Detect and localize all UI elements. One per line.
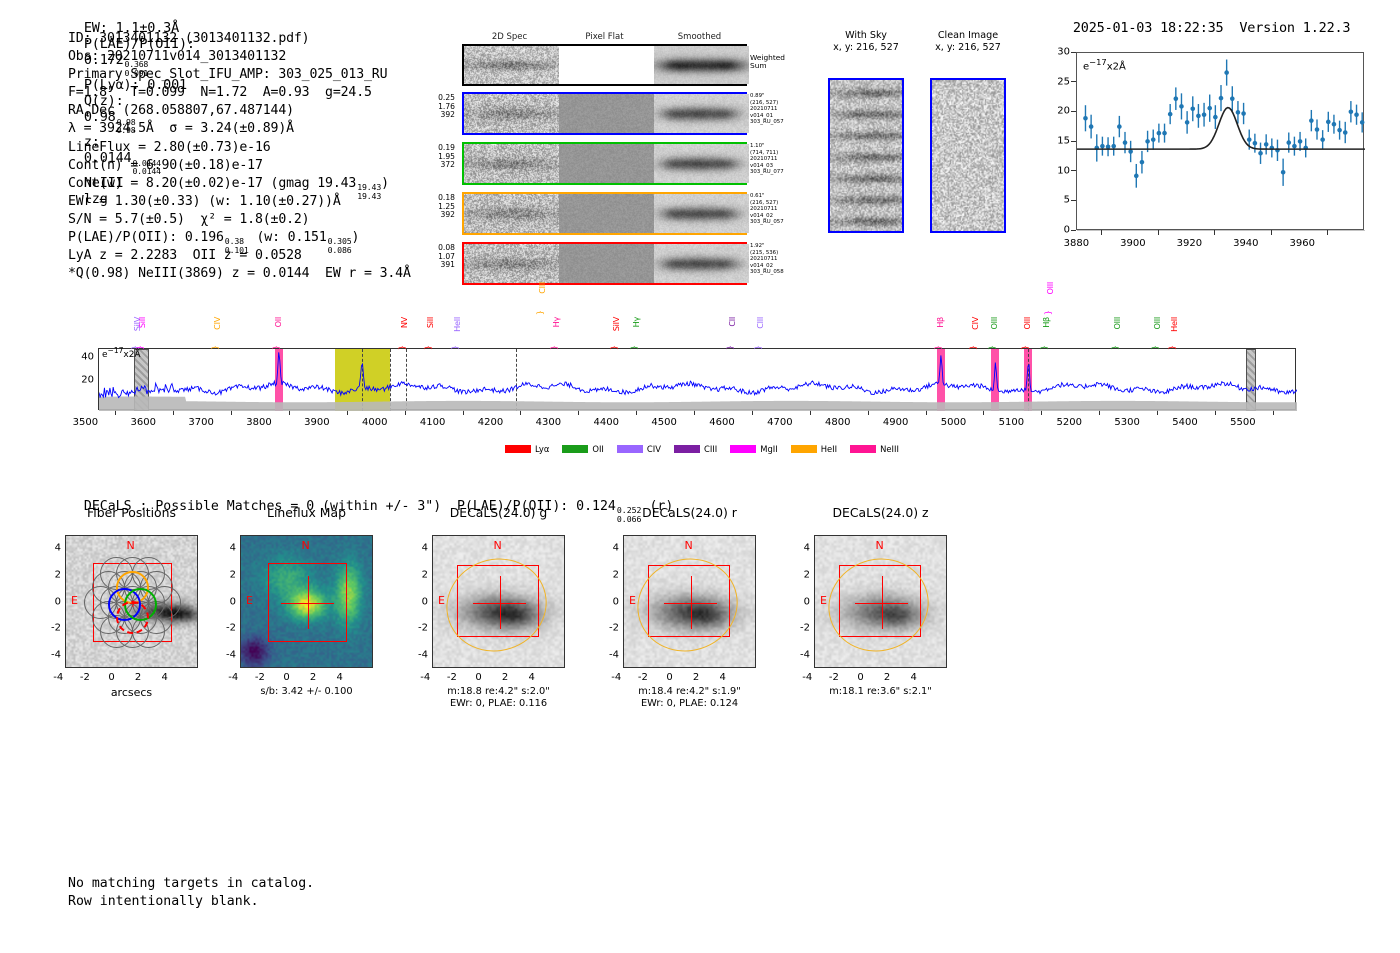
panel-4-compass-e: E — [820, 594, 827, 607]
spectrum-xtick-3800: 3800 — [229, 417, 289, 428]
panel-4-caption-1: m:18.1 re:3.6" s:2.1" — [792, 686, 969, 698]
row-1-smoothed — [654, 144, 749, 183]
linefit-ytick-15: 15 — [1038, 136, 1070, 147]
panel-2-caption-2: EWr: 0, PLAE: 0.116 — [410, 698, 587, 710]
spectrum-line-label-OIII-15: OIII — [990, 317, 998, 330]
spectrum-line-label-CIII-10: CIII — [538, 282, 546, 294]
panel-0-title: Fiber Positions — [43, 505, 220, 520]
row-0-smoothed — [654, 94, 749, 133]
panel-1-ytick--2: -2 — [214, 623, 236, 634]
spec2d-row-0-right-0: 0.89" — [750, 93, 820, 100]
cutout-1-pixels — [932, 80, 1004, 231]
panel-3-ytick-4: 4 — [597, 543, 619, 554]
panel-3-compass-e: E — [629, 594, 636, 607]
panel-1-compass-e: E — [246, 594, 253, 607]
legend-label-OII: OII — [592, 444, 604, 454]
spectrum-line-label-CII-11: CII — [728, 317, 736, 327]
spec2d-column-title-2: Smoothed — [652, 32, 747, 42]
panel-4-xtick-4: 4 — [894, 672, 934, 683]
spec2d-row-0-right-2: 20210711 — [750, 106, 820, 113]
spec2d-row-3-right-1: (215, 536) — [750, 250, 820, 257]
panel-4-title: DECaLS(24.0) z — [792, 505, 969, 520]
spectrum-xtick-5100: 5100 — [981, 417, 1041, 428]
decals-panels-row: Fiber Positions+-4-4-2-2002244NEarcsecsL… — [0, 505, 1400, 745]
spectrum-xtick-5400: 5400 — [1155, 417, 1215, 428]
legend-entry-OII: OII — [562, 444, 604, 454]
row-1-pixelflat — [559, 144, 654, 183]
linefit-plot-area: e−17x2Å — [1076, 52, 1364, 230]
spec2d-row-2-right-4: 303_RU_057 — [750, 219, 820, 226]
panel-4-ytick-2: 2 — [788, 569, 810, 580]
linefit-xtick-mark-3960 — [1327, 230, 1328, 235]
spectrum-xtick-3900: 3900 — [287, 417, 347, 428]
info-lambda-sigma: λ = 3924.5Å σ = 3.24(±0.89)Å — [68, 120, 411, 138]
linefit-ytick-mark-10 — [1071, 170, 1076, 171]
panel-0-xlabel: arcsecs — [65, 686, 198, 699]
spec2d-row-2-right-labels: 0.61"(216, 527)20210711v014_02303_RU_057 — [750, 193, 820, 226]
spectrum-xtick-4100: 4100 — [403, 417, 463, 428]
cutout-1-title-line2: x, y: 216, 527 — [908, 42, 1028, 54]
spec2d-row-1 — [462, 142, 747, 185]
spec2d-row-0-right-3: v014_01 — [750, 113, 820, 120]
linefit-xtick-mark-3880 — [1101, 230, 1102, 235]
spec2d-row-1-right-3: v014_03 — [750, 163, 820, 170]
info-plae-w-errors: 0.3050.086 — [328, 237, 352, 254]
info-redshifts: LyA z = 2.2283 OII z = 0.0528 — [68, 247, 411, 265]
spectrum-xtick-5000: 5000 — [923, 417, 983, 428]
linefit-ytick-mark-0 — [1071, 230, 1076, 231]
spec2d-weighted-sum-row — [462, 44, 747, 86]
info-plae: P(LAE)/P(OII): 0.1960.380.101 (w: 0.1510… — [68, 229, 411, 247]
spectrum-line-label-NV-4: NV — [400, 317, 408, 328]
spec2d-row-3 — [462, 242, 747, 285]
panel-2-xtick-4: 4 — [512, 672, 552, 683]
legend-swatch-MgII — [730, 445, 756, 453]
weighted-sum-label-line2: Sum — [750, 62, 785, 70]
spec2d-row-0-right-1: (216, 527) — [750, 100, 820, 107]
legend-label-CIV: CIV — [647, 444, 661, 454]
2d-spectra-block: 2D SpecPixel FlatSmoothedWeightedSum0.25… — [410, 32, 820, 262]
header-version: Version 1.22.3 — [1239, 20, 1350, 36]
linefit-xtick-mark-3900 — [1158, 230, 1159, 235]
row-2-smoothed — [654, 194, 749, 233]
legend-swatch-NeIII — [850, 445, 876, 453]
spectrum-xtick-4200: 4200 — [460, 417, 520, 428]
spec2d-column-title-1: Pixel Flat — [557, 32, 652, 42]
panel-3-ytick--4: -4 — [597, 649, 619, 660]
panel-2-crosshair-v — [500, 576, 501, 629]
panel-0-xtick-4: 4 — [145, 672, 185, 683]
info-obs: Obs: 20210711v014_3013401132 — [68, 48, 411, 66]
panel-3-compass-n: N — [685, 539, 693, 552]
spectrum-line-label-OIII-18: OIII — [1046, 282, 1054, 295]
legend-entry-Lyα: Lyα — [505, 444, 549, 454]
spec2d-row-1-right-2: 20210711 — [750, 156, 820, 163]
panel-4-ytick-0: 0 — [788, 596, 810, 607]
linefit-xtick-3960: 3960 — [1277, 238, 1327, 249]
panel-4-ytick--2: -2 — [788, 623, 810, 634]
footer-note: No matching targets in catalog. Row inte… — [68, 875, 314, 911]
spectrum-line-label-Hγ-9: Hγ — [632, 317, 640, 327]
spectrum-xtick-4700: 4700 — [750, 417, 810, 428]
legend-entry-CIII: CIII — [674, 444, 717, 454]
row-3-2dspec — [464, 244, 559, 283]
panel-2-compass-n: N — [494, 539, 502, 552]
cutout-1-title: Clean Imagex, y: 216, 527 — [908, 30, 1028, 53]
row-0-2dspec — [464, 94, 559, 133]
info-lineflux: LineFlux = 2.80(±0.73)e-16 — [68, 139, 411, 157]
panel-3-plot — [623, 535, 756, 668]
spectrum-line-brace-OIII-18: { — [1044, 310, 1053, 315]
info-radec: RA,Dec (268.058807,67.487144) — [68, 102, 411, 120]
linefit-xtick-3940: 3940 — [1221, 238, 1271, 249]
panel-1-compass-n: N — [302, 539, 310, 552]
spec2d-row-3-left-2: 391 — [410, 261, 455, 270]
panel-1-xtick-4: 4 — [320, 672, 360, 683]
spectrum-line-label-OIII-19: OIII — [1113, 317, 1121, 330]
legend-label-CIII: CIII — [704, 444, 717, 454]
spec2d-row-1-right-0: 1.10" — [750, 143, 820, 150]
spectrum-line-label-HeII-21: HeII — [1170, 317, 1178, 332]
spec2d-row-2-right-1: (216, 527) — [750, 200, 820, 207]
linefit-xtick-3900: 3900 — [1108, 238, 1158, 249]
panel-1-title: Lineflux Map — [218, 505, 395, 520]
spectrum-xtick-5500: 5500 — [1213, 417, 1273, 428]
linefit-ytick-mark-30 — [1071, 52, 1076, 53]
linefit-ytick-20: 20 — [1038, 106, 1070, 117]
panel-2-ytick-2: 2 — [406, 569, 428, 580]
spec2d-row-3-right-0: 1.92" — [750, 243, 820, 250]
spec2d-row-2-right-0: 0.61" — [750, 193, 820, 200]
spectrum-line-label-HeII-6: HeII — [453, 317, 461, 332]
panel-3-title: DECaLS(24.0) r — [601, 505, 778, 520]
spec2d-column-title-0: 2D Spec — [462, 32, 557, 42]
legend-entry-NeIII: NeIII — [850, 444, 899, 454]
emission-line-fit-chart: e−17x2Å05101520253038803900392039403960 — [1038, 52, 1400, 290]
legend-label-HeII: HeII — [821, 444, 837, 454]
spectrum-line-label-SiIV-8: SiIV — [612, 317, 620, 331]
panel-1-ytick--4: -4 — [214, 649, 236, 660]
spec2d-row-1-right-1: (714, 711) — [750, 150, 820, 157]
spectrum-line-label-CIV-14: CIV — [971, 317, 979, 330]
spectrum-xtick-4400: 4400 — [576, 417, 636, 428]
panel-4-ytick-4: 4 — [788, 543, 810, 554]
spec2d-row-2-right-2: 20210711 — [750, 206, 820, 213]
header-datetime: 2025-01-03 18:22:35 — [1073, 20, 1224, 36]
footer-line-2: Row intentionally blank. — [68, 893, 314, 911]
row-3-smoothed — [654, 244, 749, 283]
panel-2-title: DECaLS(24.0) g — [410, 505, 587, 520]
legend-swatch-CIII — [674, 445, 700, 453]
spectrum-xtick-3700: 3700 — [171, 417, 231, 428]
legend-swatch-CIV — [617, 445, 643, 453]
panel-3-caption-2: EWr: 0, PLAE: 0.124 — [601, 698, 778, 710]
image-cutouts-block: With Skyx, y: 216, 527Clean Imagex, y: 2… — [820, 30, 1020, 260]
panel-0-center-cross: + — [129, 597, 138, 610]
legend-swatch-HeII — [791, 445, 817, 453]
spectrum-xtick-5200: 5200 — [1039, 417, 1099, 428]
panel-3-ytick-2: 2 — [597, 569, 619, 580]
spec2d-row-2 — [462, 192, 747, 235]
spec2d-row-0-left-2: 392 — [410, 111, 455, 120]
linefit-ytick-10: 10 — [1038, 165, 1070, 176]
panel-3-ytick--2: -2 — [597, 623, 619, 634]
linefit-xtick-3920: 3920 — [1164, 238, 1214, 249]
cutout-1-image — [930, 78, 1006, 233]
panel-0-plot: + — [65, 535, 198, 668]
cutout-0-image — [828, 78, 904, 233]
panel-2-plot — [432, 535, 565, 668]
legend-entry-CIV: CIV — [617, 444, 661, 454]
panel-4-plot — [814, 535, 947, 668]
row-2-pixelflat — [559, 194, 654, 233]
legend-swatch-Lyα — [505, 445, 531, 453]
spectrum-xtick-3600: 3600 — [113, 417, 173, 428]
spec2d-row-1-right-labels: 1.10"(714, 711)20210711v014_03303_RU_077 — [750, 143, 820, 176]
spec2d-row-3-right-labels: 1.92"(215, 536)20210711v014_02303_RU_058 — [750, 243, 820, 276]
linefit-ytick-mark-20 — [1071, 111, 1076, 112]
footer-line-1: No matching targets in catalog. — [68, 875, 314, 893]
spec2d-row-3-left-labels: 0.081.07391 — [410, 244, 455, 270]
spectrum-line-label-CIV-2: CIV — [213, 317, 221, 330]
spec2d-row-1-right-4: 303_RU_077 — [750, 169, 820, 176]
panel-2-ytick-4: 4 — [406, 543, 428, 554]
info-primary-spec: Primary Spec_Slot_IFU_AMP: 303_025_013_R… — [68, 66, 411, 84]
linefit-ytick-25: 25 — [1038, 76, 1070, 87]
panel-0-ytick--4: -4 — [39, 649, 61, 660]
spec2d-row-3-right-3: v014_02 — [750, 263, 820, 270]
panel-0-ytick--2: -2 — [39, 623, 61, 634]
cutout-1-title-line1: Clean Image — [908, 30, 1028, 42]
panel-3-xtick-4: 4 — [703, 672, 743, 683]
linefit-ytick-5: 5 — [1038, 195, 1070, 206]
legend-swatch-OII — [562, 445, 588, 453]
panel-3-ytick-0: 0 — [597, 596, 619, 607]
spec2d-row-1-left-labels: 0.191.95372 — [410, 144, 455, 170]
panel-2-ytick--2: -2 — [406, 623, 428, 634]
panel-3-crosshair-v — [691, 576, 692, 629]
panel-1-ytick-4: 4 — [214, 543, 236, 554]
spectrum-line-label-CIII-12: CIII — [756, 317, 764, 329]
panel-4-crosshair-v — [882, 576, 883, 629]
weighted-sum-label: WeightedSum — [750, 54, 785, 71]
panel-1-plot — [240, 535, 373, 668]
spectrum-ytick-20: 20 — [66, 375, 94, 386]
info-gmag-errors: 19.4319.43 — [357, 183, 381, 200]
spec2d-row-0-left-labels: 0.251.76392 — [410, 94, 455, 120]
info-cont-wide: Cont(w) = 8.20(±0.02)e-17 (gmag 19.4319.… — [68, 175, 411, 193]
spec2d-row-0-right-labels: 0.89"(216, 527)20210711v014_01303_RU_057 — [750, 93, 820, 126]
weighted-sum-2dspec — [464, 46, 559, 84]
info-q-line: *Q(0.98) NeIII(3869) z = 0.0144 EW r = 3… — [68, 265, 411, 283]
spectrum-line-label-Hγ-7: Hγ — [552, 317, 560, 327]
panel-2-compass-e: E — [438, 594, 445, 607]
spectrum-xtick-4500: 4500 — [634, 417, 694, 428]
panel-3-caption-1: m:18.4 re:4.2" s:1.9" — [601, 686, 778, 698]
info-cont-narrow: Cont(n) = 6.90(±0.18)e-17 — [68, 157, 411, 175]
spectrum-trace-layer — [99, 349, 1297, 411]
spectrum-xtick-5300: 5300 — [1097, 417, 1157, 428]
panel-0-ytick-2: 2 — [39, 569, 61, 580]
info-params: F=1.8" T=0.099 N=1.72 A=0.93 g=24.5 — [68, 84, 411, 102]
spec2d-row-0 — [462, 92, 747, 135]
row-3-pixelflat — [559, 244, 654, 283]
spec2d-row-3-right-4: 303_RU_058 — [750, 269, 820, 276]
spectrum-flux-annotation: e−17x2Å — [102, 346, 141, 360]
row-1-2dspec — [464, 144, 559, 183]
weighted-sum-pixelflat — [559, 46, 654, 84]
panel-0-ytick-4: 4 — [39, 543, 61, 554]
panel-2-caption-1: m:18.8 re:4.2" s:2.0" — [410, 686, 587, 698]
panel-1-ytick-2: 2 — [214, 569, 236, 580]
spectrum-line-label-SiII-5: SiII — [426, 317, 434, 328]
spectrum-xtick-4000: 4000 — [345, 417, 405, 428]
spectrum-xtick-3500: 3500 — [55, 417, 115, 428]
spectrum-xtick-4300: 4300 — [518, 417, 578, 428]
spectrum-xtick-4600: 4600 — [692, 417, 752, 428]
panel-0-ytick-0: 0 — [39, 596, 61, 607]
row-0-pixelflat — [559, 94, 654, 133]
spec2d-row-2-right-3: v014_02 — [750, 213, 820, 220]
spectrum-line-label-OIII-20: OIII — [1153, 317, 1161, 330]
legend-label-NeIII: NeIII — [880, 444, 899, 454]
linefit-data-layer — [1077, 53, 1365, 231]
spectrum-line-brace-CIII-10: { — [537, 310, 546, 315]
spec2d-row-2-left-2: 392 — [410, 211, 455, 220]
weighted-sum-smoothed — [654, 46, 749, 84]
spec2d-row-2-left-labels: 0.181.25392 — [410, 194, 455, 220]
legend-entry-MgII: MgII — [730, 444, 777, 454]
spectrum-ytick-40: 40 — [66, 352, 94, 363]
linefit-ytick-mark-15 — [1071, 141, 1076, 142]
spectrum-line-label-Hβ-13: Hβ — [936, 317, 944, 328]
panel-2-ytick-0: 0 — [406, 596, 428, 607]
panel-1-crosshair-v — [308, 576, 309, 629]
spec2d-row-0-right-4: 303_RU_057 — [750, 119, 820, 126]
spectrum-plot-area: e−17x2Å — [98, 348, 1296, 410]
linefit-ytick-mark-25 — [1071, 81, 1076, 82]
spectrum-line-label-OII-3: OII — [274, 317, 282, 327]
panel-0-compass-e: E — [71, 594, 78, 607]
info-sn-chi2: S/N = 5.7(±0.5) χ² = 1.8(±0.2) — [68, 211, 411, 229]
linefit-ytick-0: 0 — [1038, 225, 1070, 236]
row-2-2dspec — [464, 194, 559, 233]
spectrum-line-label-SiII-1: SiII — [138, 317, 146, 328]
linefit-xtick-mark-3920 — [1214, 230, 1215, 235]
spectrum-xtick-4800: 4800 — [808, 417, 868, 428]
panel-0-compass-n: N — [127, 539, 135, 552]
linefit-ytick-30: 30 — [1038, 47, 1070, 58]
cutout-0-pixels — [830, 80, 902, 231]
linefit-ytick-mark-5 — [1071, 200, 1076, 201]
panel-2-ytick--4: -4 — [406, 649, 428, 660]
legend-label-MgII: MgII — [760, 444, 777, 454]
spectrum-line-label-Hβ-17: Hβ — [1042, 317, 1050, 328]
panel-1-ytick-0: 0 — [214, 596, 236, 607]
source-info-block: ID: 3013401132 (3013401132.pdf) Obs: 202… — [68, 30, 411, 283]
panel-1-caption-1: s/b: 3.42 +/- 0.100 — [218, 686, 395, 698]
spectrum-legend: LyαOIICIVCIIIMgIIHeIINeIII — [505, 444, 899, 454]
legend-label-Lyα: Lyα — [535, 444, 549, 454]
linefit-xtick-mark-3940 — [1271, 230, 1272, 235]
spectrum-xtick-4900: 4900 — [866, 417, 926, 428]
full-spectrum-chart: e−17x2Å204035003600370038003900400041004… — [98, 348, 1306, 480]
spec2d-row-1-left-2: 372 — [410, 161, 455, 170]
linefit-xtick-3880: 3880 — [1051, 238, 1101, 249]
panel-4-compass-n: N — [876, 539, 884, 552]
panel-4-ytick--4: -4 — [788, 649, 810, 660]
legend-entry-HeII: HeII — [791, 444, 837, 454]
header-timestamp-block: 2025-01-03 18:22:35 Version 1.22.3 — [1057, 4, 1350, 36]
spec2d-row-3-right-2: 20210711 — [750, 256, 820, 263]
info-id: ID: 3013401132 (3013401132.pdf) — [68, 30, 411, 48]
spectrum-line-label-OIII-16: OIII — [1023, 317, 1031, 330]
